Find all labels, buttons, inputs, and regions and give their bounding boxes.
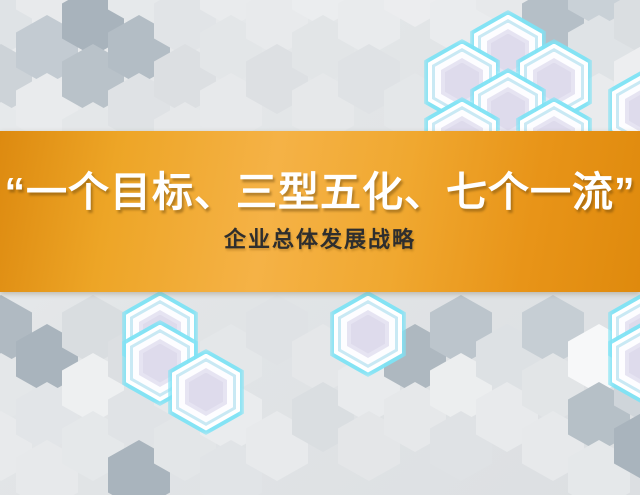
glowing-hexagon bbox=[330, 291, 406, 377]
glowing-hexagon bbox=[608, 320, 640, 406]
slide-main-title: “一个目标、三型五化、七个一流” bbox=[5, 172, 636, 213]
slide-subtitle: 企业总体发展战略 bbox=[224, 229, 416, 251]
title-banner: “一个目标、三型五化、七个一流” 企业总体发展战略 bbox=[0, 131, 640, 292]
glowing-hexagon bbox=[168, 349, 244, 435]
presentation-slide: “一个目标、三型五化、七个一流” 企业总体发展战略 bbox=[0, 0, 640, 495]
